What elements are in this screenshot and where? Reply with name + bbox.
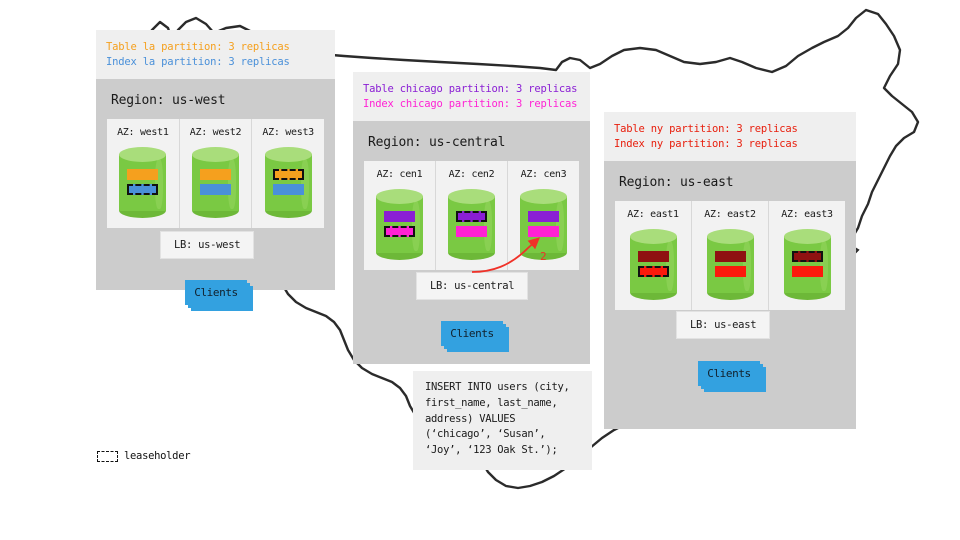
replica-bars xyxy=(784,251,831,281)
legend-label: leaseholder xyxy=(124,450,190,462)
replica-summary-us-central: Table chicago partition: 3 replicas Inde… xyxy=(353,72,590,121)
az-card-west3[interactable]: AZ: west3 xyxy=(252,119,324,228)
az-strip-us-east: AZ: east1 xyxy=(615,201,845,310)
replica-bars xyxy=(448,211,495,241)
az-label: AZ: cen1 xyxy=(364,169,435,180)
replica-bars xyxy=(119,169,166,199)
clients-button-us-west[interactable]: Clients xyxy=(185,280,247,305)
replica-summary-us-east: Table ny partition: 3 replicas Index ny … xyxy=(604,112,856,161)
table-replica-bar xyxy=(638,251,669,262)
index-replica-bar xyxy=(792,266,823,277)
replica-bars xyxy=(520,211,567,241)
node-cylinder-cen1 xyxy=(364,189,435,260)
az-label: AZ: west1 xyxy=(107,127,179,138)
replica-bars xyxy=(265,169,312,199)
table-replica-bar xyxy=(200,169,231,180)
az-card-east1[interactable]: AZ: east1 xyxy=(615,201,692,310)
region-title: Region: us-east xyxy=(619,175,843,190)
arrow-step-number: 2 xyxy=(540,250,547,263)
clients-button-us-central[interactable]: Clients xyxy=(441,321,503,346)
az-card-east3[interactable]: AZ: east3 xyxy=(769,201,845,310)
table-replica-bar xyxy=(715,251,746,262)
node-cylinder-east3 xyxy=(769,229,845,300)
replica-line-table: Table chicago partition: 3 replicas xyxy=(363,82,580,97)
az-strip-us-central: AZ: cen1 xyxy=(364,161,579,270)
az-label: AZ: cen2 xyxy=(436,169,507,180)
replica-line-index: Index ny partition: 3 replicas xyxy=(614,137,846,152)
node-cylinder-east1 xyxy=(615,229,691,300)
legend: leaseholder xyxy=(97,450,190,462)
index-replica-bar xyxy=(200,184,231,195)
table-replica-bar xyxy=(127,169,158,180)
az-card-cen1[interactable]: AZ: cen1 xyxy=(364,161,436,270)
replica-bars xyxy=(192,169,239,199)
az-card-east2[interactable]: AZ: east2 xyxy=(692,201,769,310)
az-label: AZ: east3 xyxy=(769,209,845,220)
replica-bars xyxy=(630,251,677,281)
replica-bars xyxy=(376,211,423,241)
table-replica-bar-leaseholder xyxy=(273,169,304,180)
replica-line-index: Index la partition: 3 replicas xyxy=(106,55,325,70)
az-label: AZ: cen3 xyxy=(508,169,579,180)
replica-bars xyxy=(707,251,754,281)
az-card-west2[interactable]: AZ: west2 xyxy=(180,119,253,228)
clients-button-us-east[interactable]: Clients xyxy=(698,361,760,386)
load-balancer-us-central[interactable]: LB: us-central xyxy=(416,272,528,300)
az-label: AZ: west3 xyxy=(252,127,324,138)
diagram-canvas: Table la partition: 3 replicas Index la … xyxy=(0,0,960,540)
table-replica-bar xyxy=(528,211,559,222)
region-title: Region: us-central xyxy=(368,135,577,150)
replica-summary-us-west: Table la partition: 3 replicas Index la … xyxy=(96,30,335,79)
node-cylinder-cen2 xyxy=(436,189,507,260)
index-replica-bar-leaseholder xyxy=(638,266,669,277)
az-strip-us-west: AZ: west1 xyxy=(107,119,324,228)
region-title: Region: us-west xyxy=(111,93,322,108)
index-replica-bar xyxy=(456,226,487,237)
az-label: AZ: east1 xyxy=(615,209,691,220)
az-card-west1[interactable]: AZ: west1 xyxy=(107,119,180,228)
replica-line-table: Table la partition: 3 replicas xyxy=(106,40,325,55)
table-replica-bar-leaseholder xyxy=(456,211,487,222)
node-cylinder-west3 xyxy=(252,147,324,218)
az-label: AZ: east2 xyxy=(692,209,768,220)
clients-label: Clients xyxy=(698,361,760,386)
table-replica-bar-leaseholder xyxy=(792,251,823,262)
replica-line-table: Table ny partition: 3 replicas xyxy=(614,122,846,137)
index-replica-bar-leaseholder xyxy=(384,226,415,237)
index-replica-bar xyxy=(273,184,304,195)
node-cylinder-east2 xyxy=(692,229,768,300)
node-cylinder-west1 xyxy=(107,147,179,218)
clients-label: Clients xyxy=(185,280,247,305)
az-label: AZ: west2 xyxy=(180,127,252,138)
load-balancer-us-east[interactable]: LB: us-east xyxy=(676,311,770,339)
index-replica-bar xyxy=(715,266,746,277)
clients-label: Clients xyxy=(441,321,503,346)
az-card-cen2[interactable]: AZ: cen2 xyxy=(436,161,508,270)
node-cylinder-west2 xyxy=(180,147,252,218)
index-replica-bar-leaseholder xyxy=(127,184,158,195)
table-replica-bar xyxy=(384,211,415,222)
index-replica-bar xyxy=(528,226,559,237)
sql-statement-note: INSERT INTO users (city, first_name, las… xyxy=(413,371,592,470)
dashed-rectangle-icon xyxy=(97,451,118,462)
load-balancer-us-west[interactable]: LB: us-west xyxy=(160,231,254,259)
replica-line-index: Index chicago partition: 3 replicas xyxy=(363,97,580,112)
